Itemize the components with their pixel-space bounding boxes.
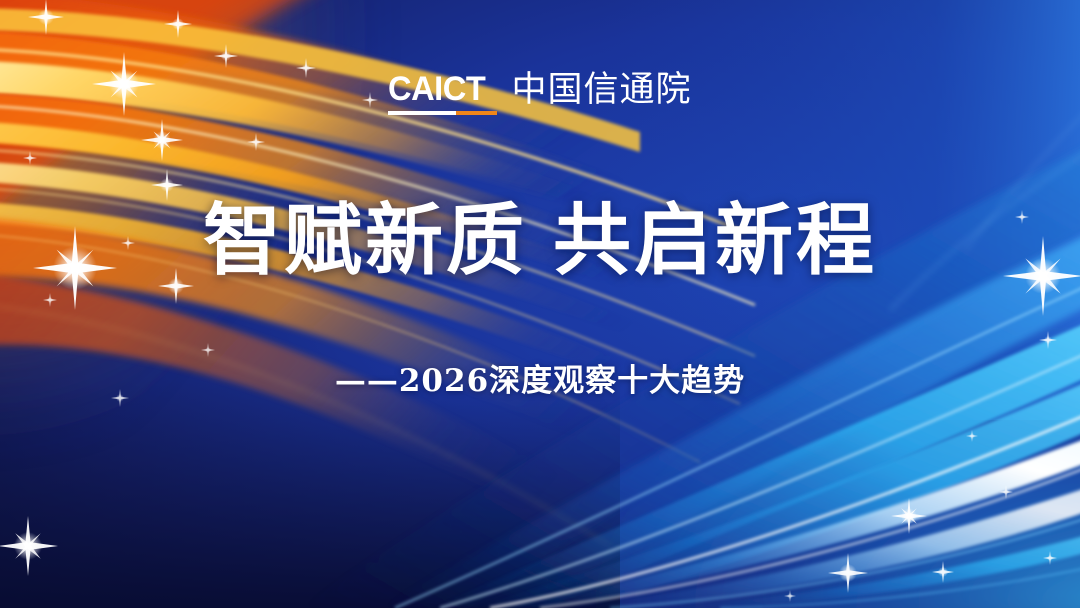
underline-orange-segment	[456, 111, 497, 115]
main-title-part-2: 共启新程	[553, 196, 877, 286]
presentation-slide: CAICT 中国信通院 智赋新质共启新程 ——2026深度观察十大趋势	[0, 0, 1080, 608]
caict-underline	[388, 111, 497, 115]
subtitle: ——2026深度观察十大趋势	[0, 355, 1080, 400]
caict-logo: CAICT 中国信通院	[0, 72, 1080, 115]
caict-wordmark: CAICT	[388, 72, 497, 115]
caict-acronym: CAICT	[388, 72, 493, 106]
slide-content: CAICT 中国信通院 智赋新质共启新程 ——2026深度观察十大趋势	[0, 0, 1080, 608]
main-title: 智赋新质共启新程	[0, 198, 1080, 285]
subtitle-block: ——2026深度观察十大趋势	[0, 355, 1080, 400]
caict-chinese-name: 中国信通院	[511, 73, 691, 108]
main-title-part-1: 智赋新质	[203, 196, 527, 286]
title-block: 智赋新质共启新程	[0, 198, 1080, 285]
underline-white-segment	[388, 111, 456, 115]
